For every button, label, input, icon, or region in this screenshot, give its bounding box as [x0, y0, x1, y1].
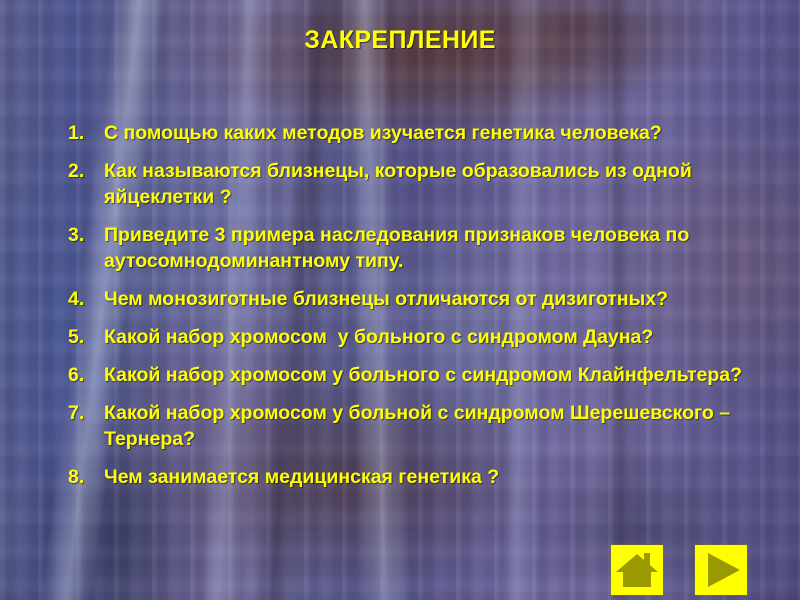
question-list: 1. С помощью каких методов изучается ген… [28, 120, 790, 502]
list-item-number: 7. [68, 400, 104, 426]
list-item-text: Какой набор хромосом у больного с синдро… [104, 362, 790, 388]
list-item-text: Как называются близнецы, которые образов… [104, 158, 790, 210]
list-item-text: С помощью каких методов изучается генети… [104, 120, 790, 146]
list-item: 6. Какой набор хромосом у больного с син… [68, 362, 790, 388]
list-item-number: 4. [68, 286, 104, 312]
list-item: 7. Какой набор хромосом у больной с синд… [68, 400, 790, 452]
list-item-text: Какой набор хромосом у больного с синдро… [104, 324, 790, 350]
play-arrow-icon [695, 545, 747, 595]
list-item-number: 5. [68, 324, 104, 350]
list-item-number: 1. [68, 120, 104, 146]
slide-content: ЗАКРЕПЛЕНИЕ 1. С помощью каких методов и… [0, 0, 800, 600]
list-item-number: 3. [68, 222, 104, 248]
list-item: 8. Чем занимается медицинская генетика ? [68, 464, 790, 490]
presentation-slide: ЗАКРЕПЛЕНИЕ 1. С помощью каких методов и… [0, 0, 800, 600]
list-item-text: Чем занимается медицинская генетика ? [104, 464, 790, 490]
next-button[interactable] [695, 545, 747, 595]
home-button[interactable] [611, 545, 663, 595]
home-icon [611, 545, 663, 595]
list-item-number: 6. [68, 362, 104, 388]
list-item: 1. С помощью каких методов изучается ген… [68, 120, 790, 146]
list-item-text: Какой набор хромосом у больной с синдром… [104, 400, 790, 452]
list-item-number: 8. [68, 464, 104, 490]
page-title: ЗАКРЕПЛЕНИЕ [0, 26, 800, 55]
navigation-buttons [611, 545, 747, 595]
list-item-text: Приведите 3 примера наследования признак… [104, 222, 790, 274]
list-item: 3. Приведите 3 примера наследования приз… [68, 222, 790, 274]
list-item: 4. Чем монозиготные близнецы отличаются … [68, 286, 790, 312]
list-item-text: Чем монозиготные близнецы отличаются от … [104, 286, 790, 312]
list-item-number: 2. [68, 158, 104, 184]
list-item: 2. Как называются близнецы, которые обра… [68, 158, 790, 210]
list-item: 5. Какой набор хромосом у больного с син… [68, 324, 790, 350]
